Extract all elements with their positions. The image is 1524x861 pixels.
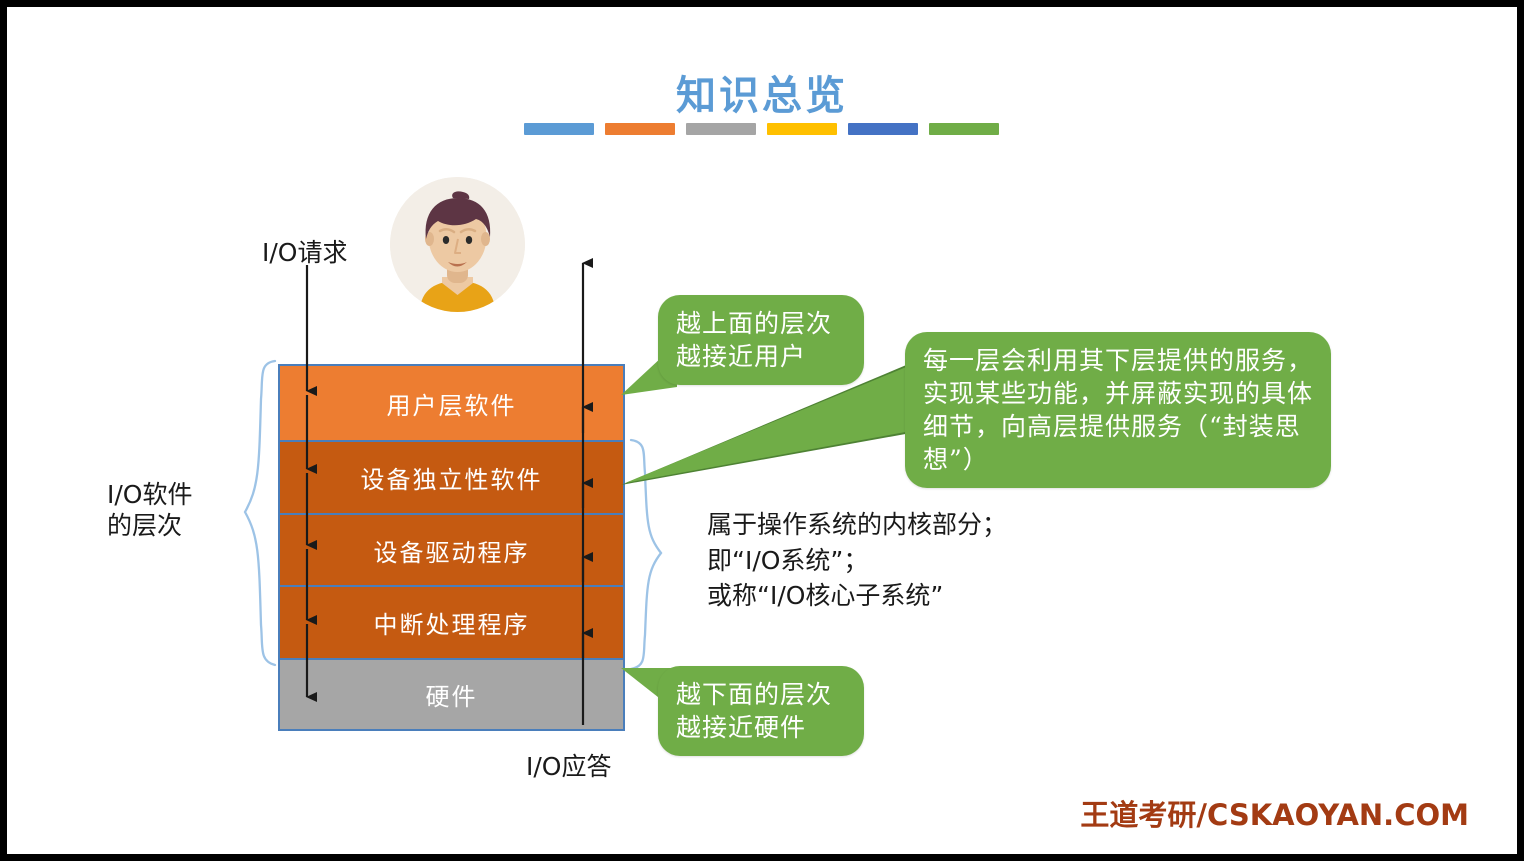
layer-device-independent[interactable]: 设备独立性软件: [278, 440, 625, 515]
layer-user-software[interactable]: 用户层软件: [278, 364, 625, 442]
title-bar-blue: [524, 123, 594, 135]
layer-label: 硬件: [426, 677, 478, 712]
slide-canvas: 知识总览: [0, 0, 1524, 861]
callout-encapsulation-tail: [619, 359, 919, 493]
callout-encapsulation: 每一层会利用其下层提供的服务，实现某些功能，并屏蔽实现的具体细节，向高层提供服务…: [905, 332, 1331, 488]
io-request-label: I/O请求: [262, 233, 347, 269]
layer-device-driver[interactable]: 设备驱动程序: [278, 513, 625, 587]
layer-interrupt-handler[interactable]: 中断处理程序: [278, 585, 625, 660]
left-brace: [225, 359, 281, 669]
page-title: 知识总览: [7, 63, 1517, 121]
avatar-illustration: [390, 177, 525, 312]
watermark: 王道考研/CSKAOYAN.COM: [1080, 792, 1469, 834]
callout-lower-layers: 越下面的层次 越接近硬件: [658, 666, 864, 756]
title-bar-yellow: [767, 123, 837, 135]
title-underline-bars: [524, 123, 999, 135]
io-layer-stack: 用户层软件 设备独立性软件 设备驱动程序 中断处理程序 硬件: [278, 364, 625, 739]
layer-label: 设备独立性软件: [361, 460, 543, 495]
layer-label: 用户层软件: [387, 386, 517, 421]
io-reply-label: I/O应答: [526, 747, 611, 783]
title-bar-gray: [686, 123, 756, 135]
layer-label: 设备驱动程序: [374, 533, 530, 568]
layer-label: 中断处理程序: [374, 605, 530, 640]
title-bar-orange: [605, 123, 675, 135]
left-brace-label: I/O软件 的层次: [107, 479, 192, 542]
kernel-note-text: 属于操作系统的内核部分； 即“I/O系统”； 或称“I/O核心子系统”: [707, 507, 1007, 614]
title-bar-green: [929, 123, 999, 135]
title-bar-dark-blue: [848, 123, 918, 135]
layer-hardware[interactable]: 硬件: [278, 658, 625, 731]
user-avatar: [390, 177, 525, 312]
